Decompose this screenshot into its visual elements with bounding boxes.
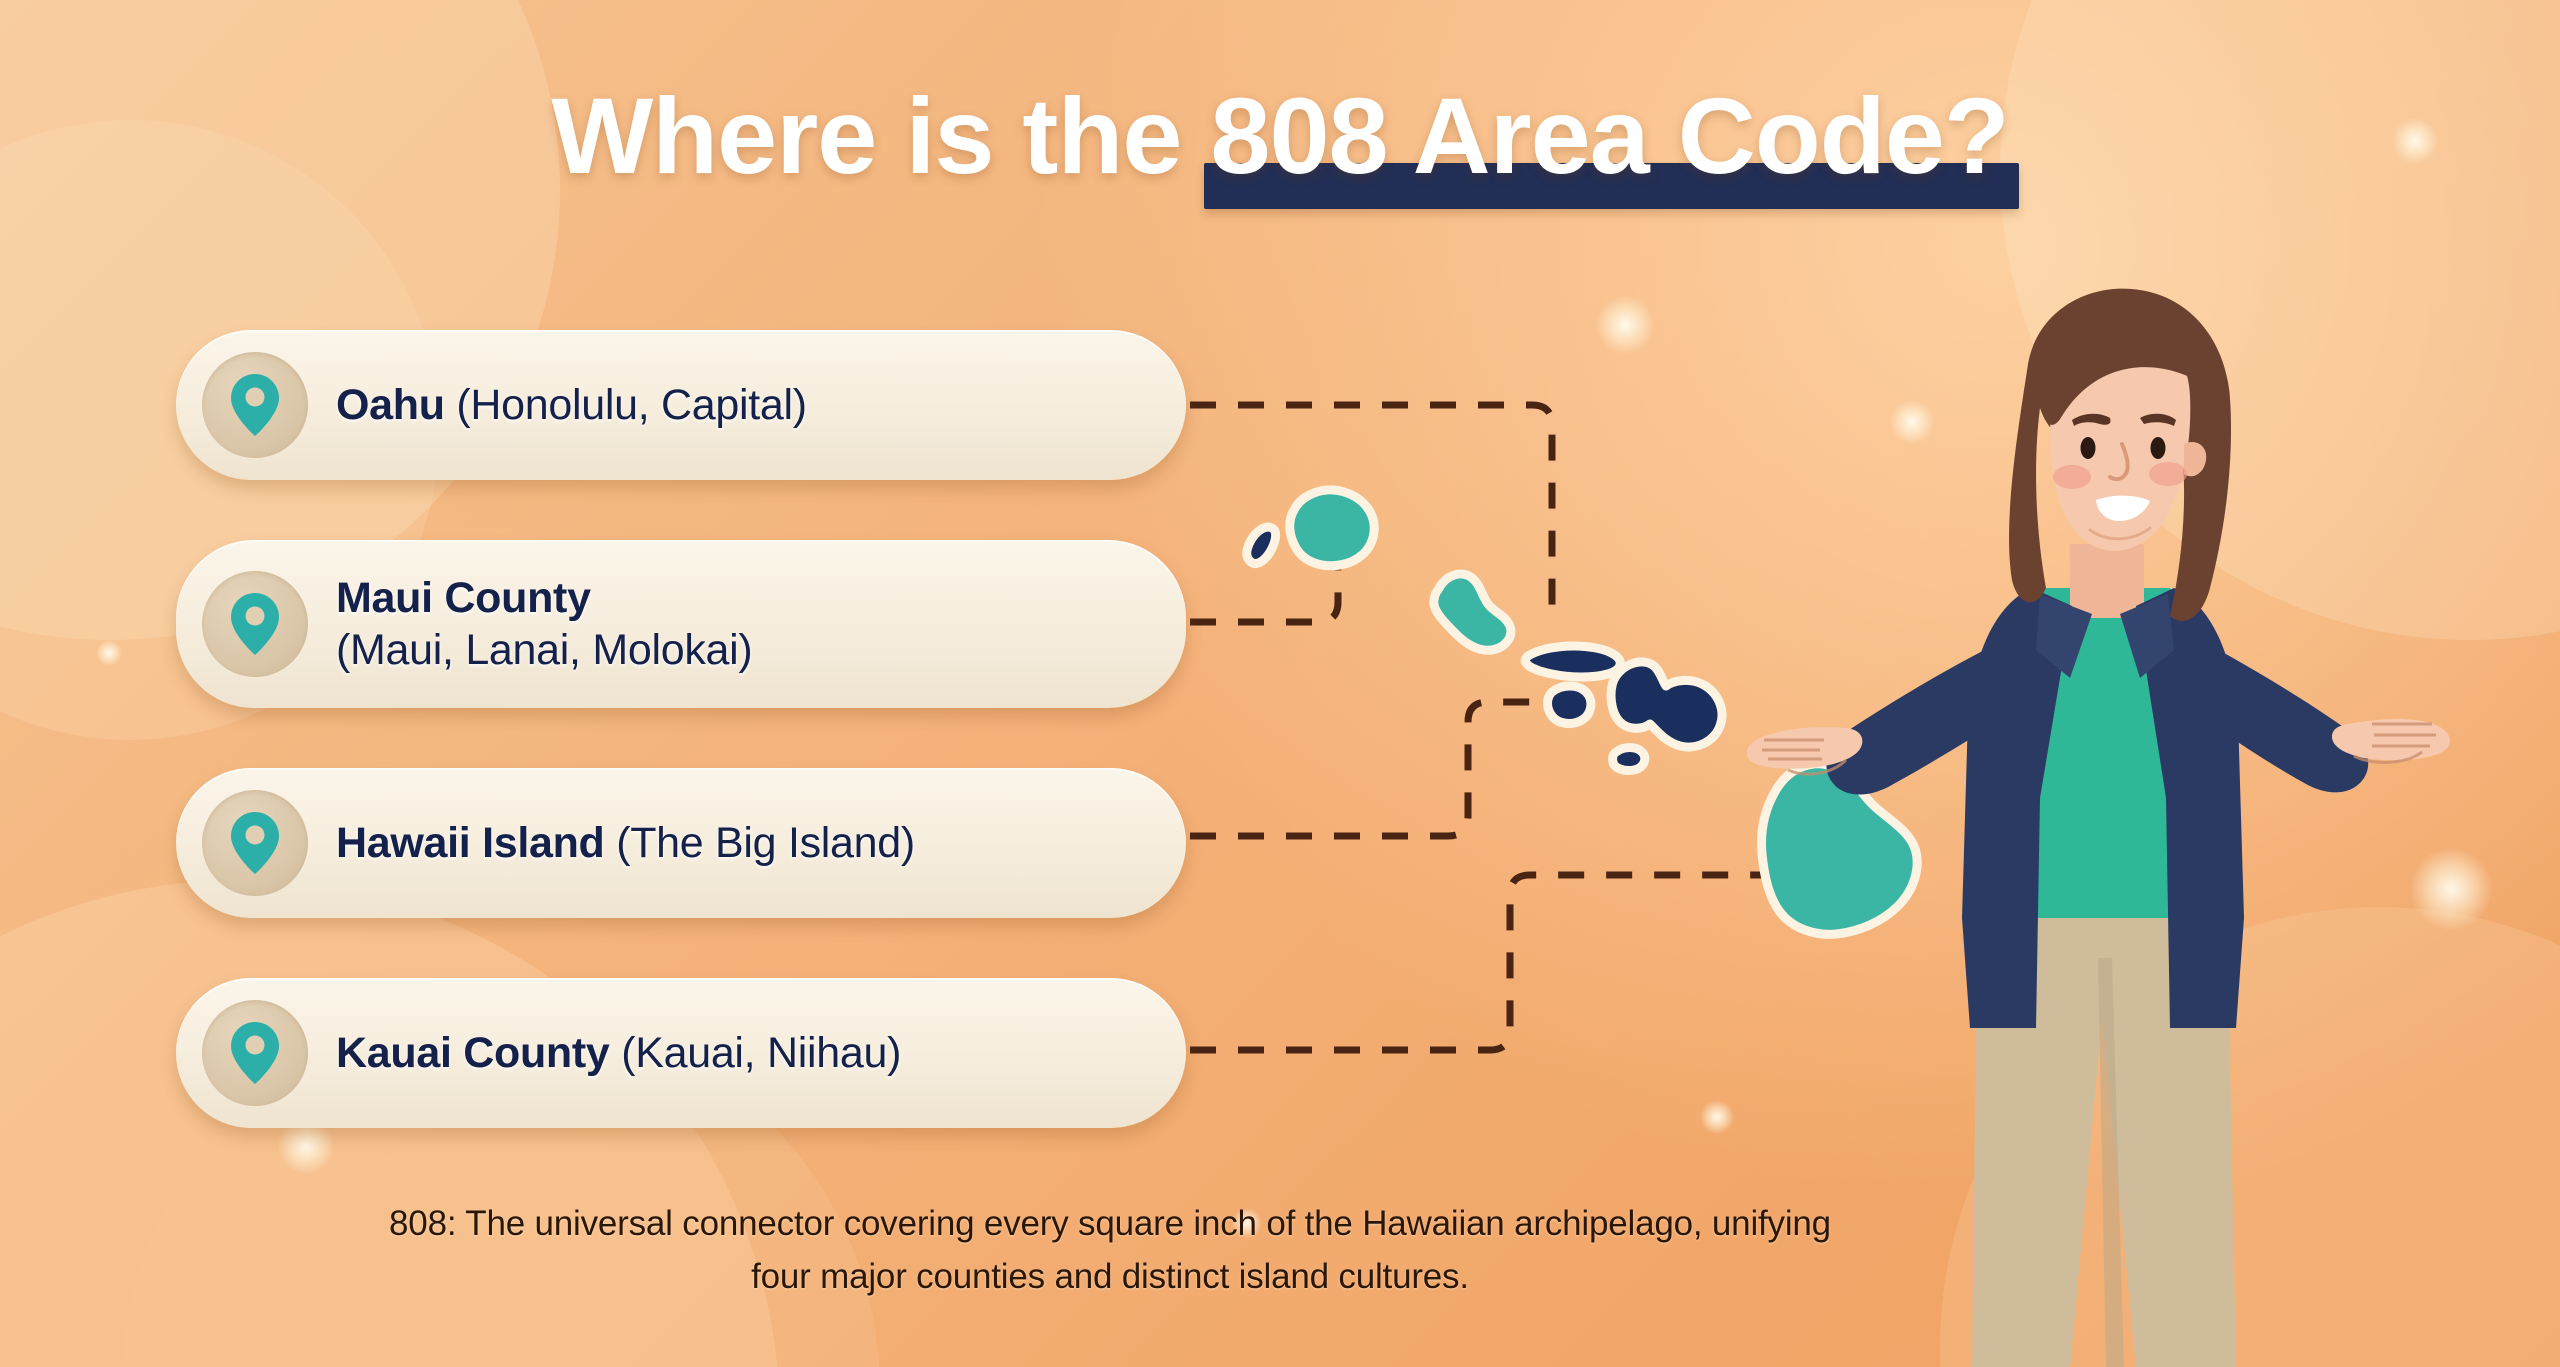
map-pin-icon <box>202 571 308 677</box>
page-title-plain: Where is the <box>551 75 1210 196</box>
list-item-text: Oahu (Honolulu, Capital) <box>336 379 807 431</box>
page-title-highlight: 808 Area Code? <box>1210 78 2008 195</box>
county-detail: (Maui, Lanai, Molokai) <box>336 624 752 676</box>
illustration-eye-left <box>2081 437 2096 459</box>
title-block: Where is the 808 Area Code? <box>0 78 2560 195</box>
island-niihau <box>1247 527 1276 563</box>
county-name: Kauai County <box>336 1029 610 1077</box>
illustration-woman-presenting <box>1740 258 2460 1367</box>
county-name: Oahu <box>336 381 445 429</box>
map-pin-icon <box>202 352 308 458</box>
illustration-cheek-left <box>2053 465 2091 489</box>
list-item-kauai-county[interactable]: Kauai County (Kauai, Niihau) <box>176 978 1186 1128</box>
bokeh-light-1 <box>1596 296 1654 354</box>
county-detail: (Kauai, Niihau) <box>621 1029 901 1077</box>
list-item-text: Maui County(Maui, Lanai, Molokai) <box>336 572 752 677</box>
list-item-maui-county[interactable]: Maui County(Maui, Lanai, Molokai) <box>176 540 1186 708</box>
illustration-eye-right <box>2151 437 2166 459</box>
illustration-cheek-right <box>2149 462 2187 486</box>
page-title: Where is the 808 Area Code? <box>551 78 2008 195</box>
map-pin-icon <box>202 1000 308 1106</box>
list-item-oahu[interactable]: Oahu (Honolulu, Capital) <box>176 330 1186 480</box>
county-list: Oahu (Honolulu, Capital) Maui County(Mau… <box>176 330 1206 1188</box>
bokeh-light-8 <box>96 640 122 666</box>
page-title-highlighted-text: 808 Area Code? <box>1210 75 2008 196</box>
map-pin-icon <box>202 790 308 896</box>
county-name: Hawaii Island <box>336 819 605 867</box>
county-detail: (Honolulu, Capital) <box>456 381 806 429</box>
island-maui <box>1611 662 1722 747</box>
island-kahoolawe <box>1613 748 1645 771</box>
list-item-hawaii-island[interactable]: Hawaii Island (The Big Island) <box>176 768 1186 918</box>
island-kauai <box>1290 490 1374 566</box>
list-item-text: Hawaii Island (The Big Island) <box>336 817 915 869</box>
county-detail: (The Big Island) <box>616 819 915 867</box>
bokeh-light-3 <box>1700 1100 1734 1134</box>
footer-note: 808: The universal connector covering ev… <box>380 1198 1840 1303</box>
island-oahu <box>1434 574 1511 650</box>
island-molokai <box>1525 646 1620 677</box>
county-name: Maui County <box>336 572 752 624</box>
infographic-canvas: Where is the 808 Area Code? <box>0 0 2560 1367</box>
illustration-neck <box>2070 544 2144 618</box>
list-item-text: Kauai County (Kauai, Niihau) <box>336 1027 901 1079</box>
island-lanai <box>1548 686 1591 723</box>
